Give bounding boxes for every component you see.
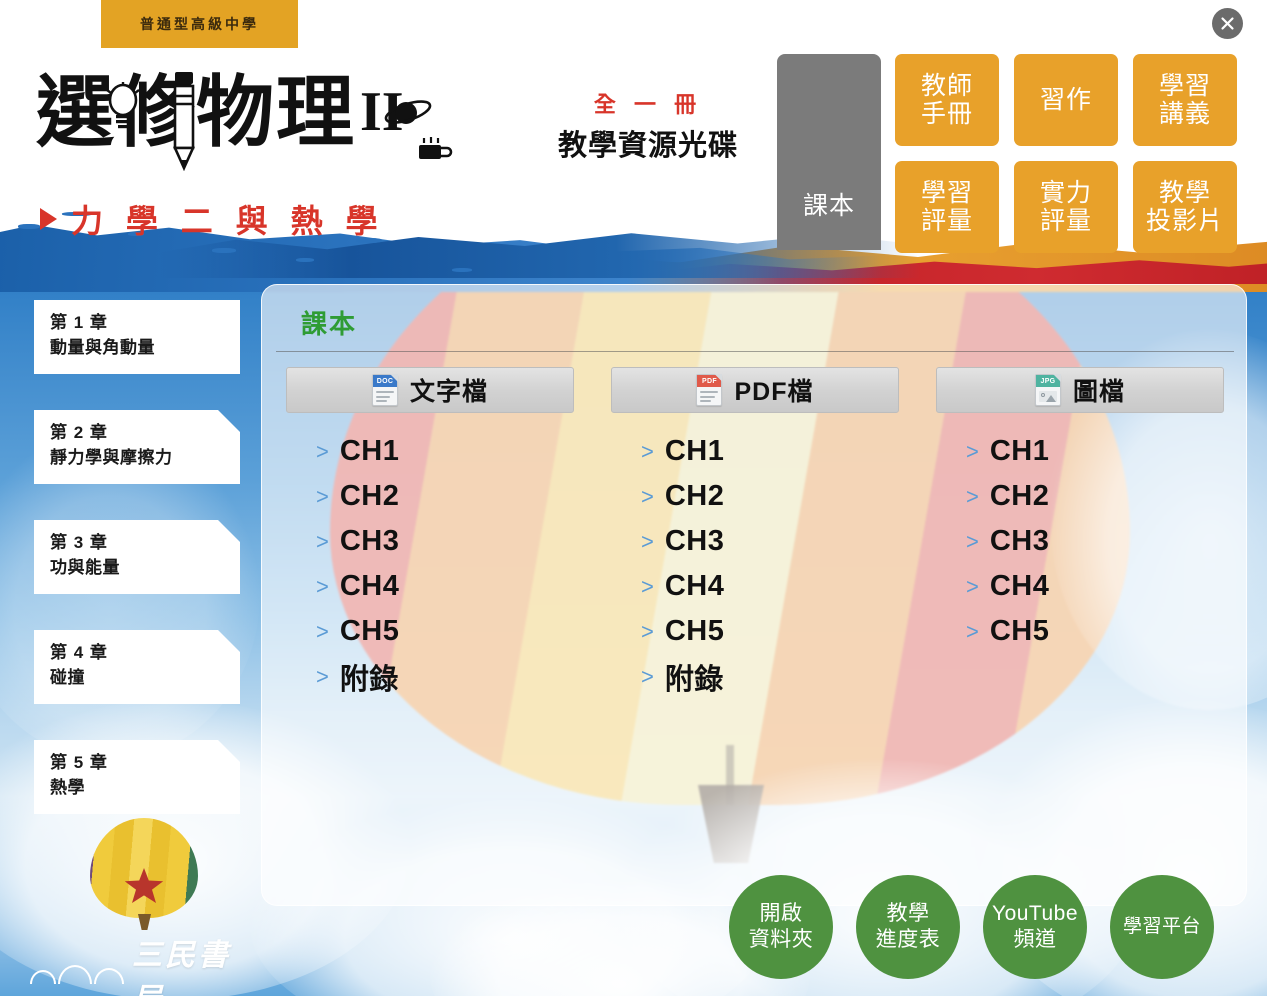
chapter-name: 動量與角動量 <box>50 336 240 361</box>
list-item[interactable]: > CH3 <box>316 519 574 564</box>
sidebar-item-chapter-1[interactable]: 第 1 章 動量與角動量 <box>34 300 240 374</box>
list-item[interactable]: > CH4 <box>966 564 1224 609</box>
list-item-label: CH1 <box>990 435 1050 468</box>
nav-button-line1: 習作 <box>1040 86 1092 114</box>
chevron-right-icon: > <box>641 531 654 553</box>
chevron-right-icon: > <box>316 666 329 688</box>
nav-button-study-assessment[interactable]: 學習 評量 <box>895 161 999 253</box>
chapter-number: 第 4 章 <box>50 641 240 666</box>
page-title-main: 選修物理 <box>36 78 356 150</box>
list-item-label: CH3 <box>340 525 400 558</box>
list-item-label: CH4 <box>340 570 400 603</box>
file-type-columns: DOC 文字檔 > CH1 > CH2 <box>286 367 1224 699</box>
list-item[interactable]: > CH2 <box>316 474 574 519</box>
nav-button-line1: 教學 <box>1159 179 1211 207</box>
chevron-right-icon: > <box>966 441 979 463</box>
list-item-label: CH2 <box>340 480 400 513</box>
page-title-volume-numeral: II <box>360 80 404 144</box>
chevron-right-icon: > <box>966 486 979 508</box>
chapter-number: 第 1 章 <box>50 311 240 336</box>
list-item-label: CH5 <box>340 615 400 648</box>
file-type-button-image[interactable]: JPG 圖檔 <box>936 367 1224 413</box>
list-item[interactable]: > 附錄 <box>316 654 574 699</box>
list-item[interactable]: > CH4 <box>316 564 574 609</box>
action-button-line1: YouTube <box>992 902 1078 925</box>
list-item[interactable]: > 附錄 <box>641 654 899 699</box>
chevron-right-icon: > <box>641 621 654 643</box>
chapter-sidebar: 第 1 章 動量與角動量 第 2 章 靜力學與摩擦力 第 3 章 功與能量 第 … <box>34 300 240 850</box>
close-button[interactable] <box>1212 8 1243 39</box>
file-column-image: JPG 圖檔 > CH1 > CH2 > <box>936 367 1224 699</box>
nav-button-line1: 實力 <box>1040 179 1092 207</box>
chevron-right-icon: > <box>641 441 654 463</box>
nav-button-line1: 學習 <box>921 179 973 207</box>
file-type-label: PDF檔 <box>734 372 813 408</box>
list-item-label: CH3 <box>990 525 1050 558</box>
curriculum-badge-label: 普通型高級中學 <box>140 14 259 34</box>
triangle-bullet-icon <box>40 208 57 230</box>
sidebar-item-chapter-3[interactable]: 第 3 章 功與能量 <box>34 520 240 594</box>
action-button-line1: 教學 <box>887 902 930 925</box>
file-type-label: 圖檔 <box>1073 372 1125 408</box>
list-item-label: 附錄 <box>340 656 399 698</box>
nav-button-line1: 教師 <box>921 72 973 100</box>
list-item[interactable]: > CH2 <box>641 474 899 519</box>
jpg-file-icon: JPG <box>1035 374 1061 406</box>
file-column-doc: DOC 文字檔 > CH1 > CH2 <box>286 367 574 699</box>
action-button-learning-platform[interactable]: 學習平台 <box>1110 875 1214 979</box>
nav-button-line2: 講義 <box>1159 100 1211 128</box>
chevron-right-icon: > <box>316 486 329 508</box>
chapter-number: 第 2 章 <box>50 421 240 446</box>
list-item-label: CH3 <box>665 525 725 558</box>
curriculum-badge: 普通型高級中學 <box>101 0 298 48</box>
quick-action-row: 開啟 資料夾 教學 進度表 YouTube 頻道 學習平台 <box>729 875 1214 979</box>
chapter-name: 熱學 <box>50 776 240 801</box>
chevron-right-icon: > <box>966 576 979 598</box>
list-item-label: CH4 <box>665 570 725 603</box>
chevron-right-icon: > <box>316 441 329 463</box>
list-item-label: CH1 <box>340 435 400 468</box>
resource-disc-label: 教學資源光碟 <box>540 122 756 164</box>
action-button-open-folder[interactable]: 開啟 資料夾 <box>729 875 833 979</box>
chevron-right-icon: > <box>316 531 329 553</box>
chapter-name: 功與能量 <box>50 556 240 581</box>
panel-title: 課本 <box>301 304 357 341</box>
nav-button-study-handout[interactable]: 學習 講義 <box>1133 54 1237 146</box>
list-item-label: CH2 <box>990 480 1050 513</box>
list-item[interactable]: > CH5 <box>316 609 574 654</box>
action-button-line1: 學習平台 <box>1123 915 1201 938</box>
file-link-list-image: > CH1 > CH2 > CH3 > CH4 <box>936 429 1224 654</box>
list-item-label: CH2 <box>665 480 725 513</box>
file-type-button-doc[interactable]: DOC 文字檔 <box>286 367 574 413</box>
nav-button-line2: 評量 <box>921 207 973 235</box>
title-right-block: 全 一 冊 教學資源光碟 <box>540 92 756 164</box>
chapter-number: 第 5 章 <box>50 751 240 776</box>
paint-speck <box>452 268 472 272</box>
action-button-youtube-channel[interactable]: YouTube 頻道 <box>983 875 1087 979</box>
list-item[interactable]: > CH1 <box>641 429 899 474</box>
nav-button-line1: 學習 <box>1159 72 1211 100</box>
action-button-line2: 進度表 <box>876 928 941 951</box>
nav-button-line2: 評量 <box>1040 207 1092 235</box>
file-link-list-pdf: > CH1 > CH2 > CH3 > CH4 <box>611 429 899 699</box>
nav-button-line2: 投影片 <box>1146 207 1224 235</box>
nav-button-workbook[interactable]: 習作 <box>1014 54 1118 146</box>
chevron-right-icon: > <box>641 486 654 508</box>
chevron-right-icon: > <box>641 666 654 688</box>
chevron-right-icon: > <box>641 576 654 598</box>
chapter-number: 第 3 章 <box>50 531 240 556</box>
file-column-pdf: PDF PDF檔 > CH1 > CH2 <box>611 367 899 699</box>
resource-nav-grid: 教師 手冊 習作 學習 講義 學習 評量 實力 評量 <box>895 54 1250 253</box>
file-type-label: 文字檔 <box>410 372 488 408</box>
volume-label: 全 一 冊 <box>540 92 756 118</box>
list-item[interactable]: > CH2 <box>966 474 1224 519</box>
action-button-line2: 資料夾 <box>749 928 814 951</box>
book-subheading: 力 學 二 與 熱 學 <box>40 196 384 242</box>
panel-divider <box>276 351 1234 352</box>
nav-button-line2: 手冊 <box>921 100 973 128</box>
list-item-label: CH5 <box>990 615 1050 648</box>
pdf-file-icon: PDF <box>696 374 722 406</box>
application-window: 普通型高級中學 選修物理 II 全 一 冊 教學資源光碟 <box>0 0 1267 996</box>
close-icon <box>1220 16 1235 31</box>
list-item[interactable]: > CH4 <box>641 564 899 609</box>
chevron-right-icon: > <box>966 621 979 643</box>
list-item[interactable]: > CH1 <box>966 429 1224 474</box>
sidebar-item-chapter-4[interactable]: 第 4 章 碰撞 <box>34 630 240 704</box>
list-item[interactable]: > CH3 <box>641 519 899 564</box>
paint-speck <box>296 258 314 262</box>
list-item[interactable]: > CH5 <box>966 609 1224 654</box>
sidebar-item-chapter-2[interactable]: 第 2 章 靜力學與摩擦力 <box>34 410 240 484</box>
action-button-line2: 頻道 <box>1014 928 1057 951</box>
tab-textbook-label: 課本 <box>803 186 855 222</box>
action-button-teaching-schedule[interactable]: 教學 進度表 <box>856 875 960 979</box>
sidebar-item-chapter-5[interactable]: 第 5 章 熱學 <box>34 740 240 814</box>
paint-speck <box>18 224 40 229</box>
list-item[interactable]: > CH5 <box>641 609 899 654</box>
page-title: 選修物理 II <box>36 78 404 150</box>
chevron-right-icon: > <box>316 621 329 643</box>
file-link-list-doc: > CH1 > CH2 > CH3 > CH4 <box>286 429 574 699</box>
list-item[interactable]: > CH1 <box>316 429 574 474</box>
nav-button-ability-assessment[interactable]: 實力 評量 <box>1014 161 1118 253</box>
tab-textbook[interactable]: 課本 <box>777 54 881 250</box>
nav-button-teacher-manual[interactable]: 教師 手冊 <box>895 54 999 146</box>
doc-file-icon: DOC <box>372 374 398 406</box>
list-item-label: CH5 <box>665 615 725 648</box>
paint-speck <box>212 248 236 253</box>
book-subheading-label: 力 學 二 與 熱 學 <box>71 196 384 242</box>
list-item[interactable]: > CH3 <box>966 519 1224 564</box>
nav-button-teaching-slides[interactable]: 教學 投影片 <box>1133 161 1237 253</box>
chapter-name: 碰撞 <box>50 666 240 691</box>
chapter-name: 靜力學與摩擦力 <box>50 446 240 471</box>
action-button-line1: 開啟 <box>760 902 803 925</box>
list-item-label: CH4 <box>990 570 1050 603</box>
list-item-label: CH1 <box>665 435 725 468</box>
file-type-button-pdf[interactable]: PDF PDF檔 <box>611 367 899 413</box>
list-item-label: 附錄 <box>665 656 724 698</box>
chevron-right-icon: > <box>316 576 329 598</box>
chevron-right-icon: > <box>966 531 979 553</box>
content-panel: 課本 DOC 文字檔 > CH1 <box>261 284 1247 906</box>
